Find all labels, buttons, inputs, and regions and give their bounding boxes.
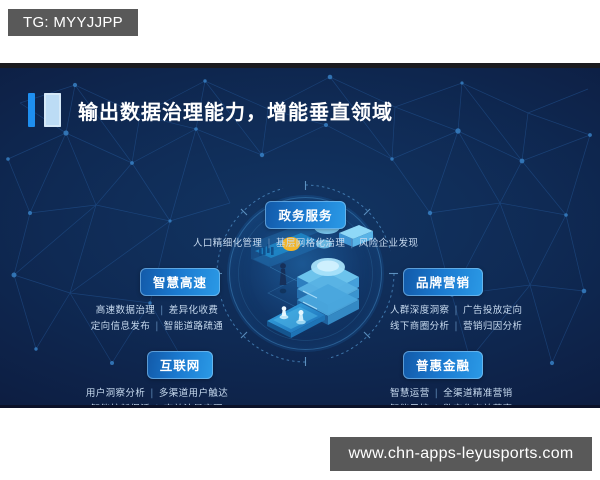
category-block-internet: 互联网 用户洞察分析|多渠道用户触达 智能拉新促活|高效流量变现 <box>62 351 252 408</box>
person-figure <box>280 263 287 293</box>
poster-headline: 输出数据治理能力，增能垂直领域 <box>28 93 393 127</box>
tg-watermark-tag: TG: MYYJJPP <box>8 9 138 36</box>
headline-accent-bar-solid <box>28 93 35 127</box>
category-item-row: 人口精细化管理|基层网格化治理|风险企业发现 <box>193 236 418 252</box>
category-block-brand-marketing: 品牌营销 人群深度洞察|广告投放定向 线下商圈分析|营销归因分析 <box>390 268 590 335</box>
poster-image: 输出数据治理能力，增能垂直领域 <box>0 63 600 408</box>
category-item: 营销归因分析 <box>463 321 522 332</box>
category-item-row: 用户洞察分析|多渠道用户触达 <box>62 386 252 402</box>
category-badge-government[interactable]: 政务服务 <box>265 201 345 229</box>
item-separator: | <box>262 238 276 249</box>
category-item: 基层网格化治理 <box>276 238 345 249</box>
category-item: 用户洞察分析 <box>86 388 145 399</box>
category-item-row: 线下商圈分析|营销归因分析 <box>390 319 590 335</box>
item-separator: | <box>145 388 159 399</box>
category-item-row: 智慧运营|全渠道精准营销 <box>390 386 590 402</box>
category-item: 全渠道精准营销 <box>443 388 512 399</box>
category-block-smart-highway: 智慧高速 高速数据治理|差异化收费 定向信息发布|智能道路疏通 <box>62 268 252 335</box>
item-separator: | <box>430 388 444 399</box>
item-separator: | <box>345 238 359 249</box>
category-item: 人口精细化管理 <box>193 238 262 249</box>
category-badge-brand-marketing[interactable]: 品牌营销 <box>403 268 483 296</box>
category-item: 差异化收费 <box>169 305 219 316</box>
category-item: 人群深度洞察 <box>390 305 449 316</box>
category-item: 智慧运营 <box>390 388 430 399</box>
item-separator: | <box>449 305 463 316</box>
category-block-inclusive-finance: 普惠金融 智慧运营|全渠道精准营销 智能风控|数字化高效获客 <box>390 351 590 408</box>
category-badge-inclusive-finance[interactable]: 普惠金融 <box>403 351 483 379</box>
category-badge-smart-highway[interactable]: 智慧高速 <box>140 268 220 296</box>
category-items-government: 人口精细化管理|基层网格化治理|风险企业发现 <box>193 236 418 252</box>
item-separator: | <box>155 305 169 316</box>
category-item-row: 高速数据治理|差异化收费 <box>62 303 252 319</box>
category-item: 智能道路疏通 <box>164 321 223 332</box>
category-item: 风险企业发现 <box>359 238 418 249</box>
category-items-smart-highway: 高速数据治理|差异化收费 定向信息发布|智能道路疏通 <box>62 303 252 335</box>
category-items-brand-marketing: 人群深度洞察|广告投放定向 线下商圈分析|营销归因分析 <box>390 303 590 335</box>
headline-accent-bar-outline <box>44 93 61 127</box>
headline-text: 输出数据治理能力，增能垂直领域 <box>78 96 393 125</box>
poster-bottom-edge <box>0 405 600 408</box>
item-separator: | <box>449 321 463 332</box>
category-badge-internet[interactable]: 互联网 <box>147 351 214 379</box>
category-item: 定向信息发布 <box>91 321 150 332</box>
site-url-watermark: www.chn-apps-leyusports.com <box>330 437 592 471</box>
item-separator: | <box>150 321 164 332</box>
category-item: 多渠道用户触达 <box>159 388 228 399</box>
category-block-government: 政务服务 人口精细化管理|基层网格化治理|风险企业发现 <box>193 201 418 252</box>
category-item: 线下商圈分析 <box>390 321 449 332</box>
category-item: 高速数据治理 <box>96 305 155 316</box>
category-item: 广告投放定向 <box>463 305 522 316</box>
category-item-row: 人群深度洞察|广告投放定向 <box>390 303 590 319</box>
category-item-row: 定向信息发布|智能道路疏通 <box>62 319 252 335</box>
